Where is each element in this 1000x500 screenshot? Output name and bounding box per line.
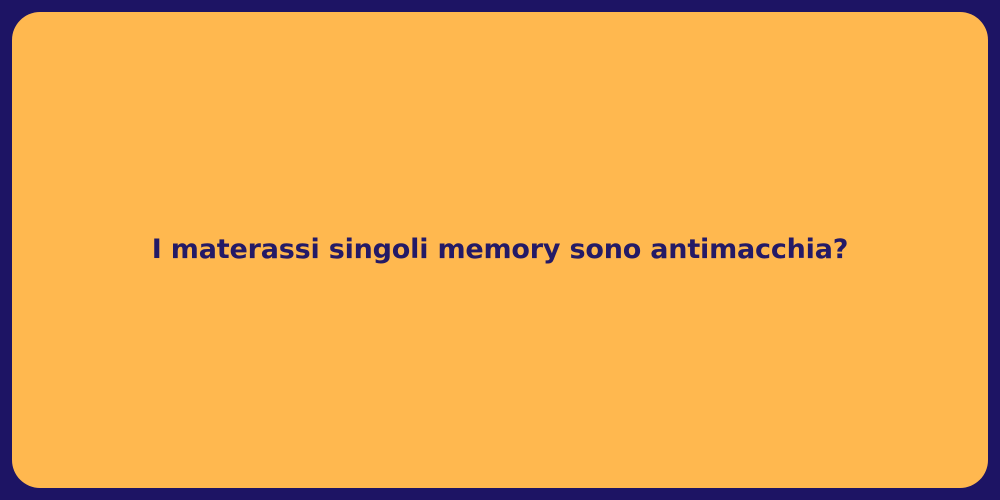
card-body: I materassi singoli memory sono antimacc… [12,233,988,267]
page-frame: I materassi singoli memory sono antimacc… [0,0,1000,500]
page-title: I materassi singoli memory sono antimacc… [152,233,848,267]
question-card: I materassi singoli memory sono antimacc… [12,12,988,488]
